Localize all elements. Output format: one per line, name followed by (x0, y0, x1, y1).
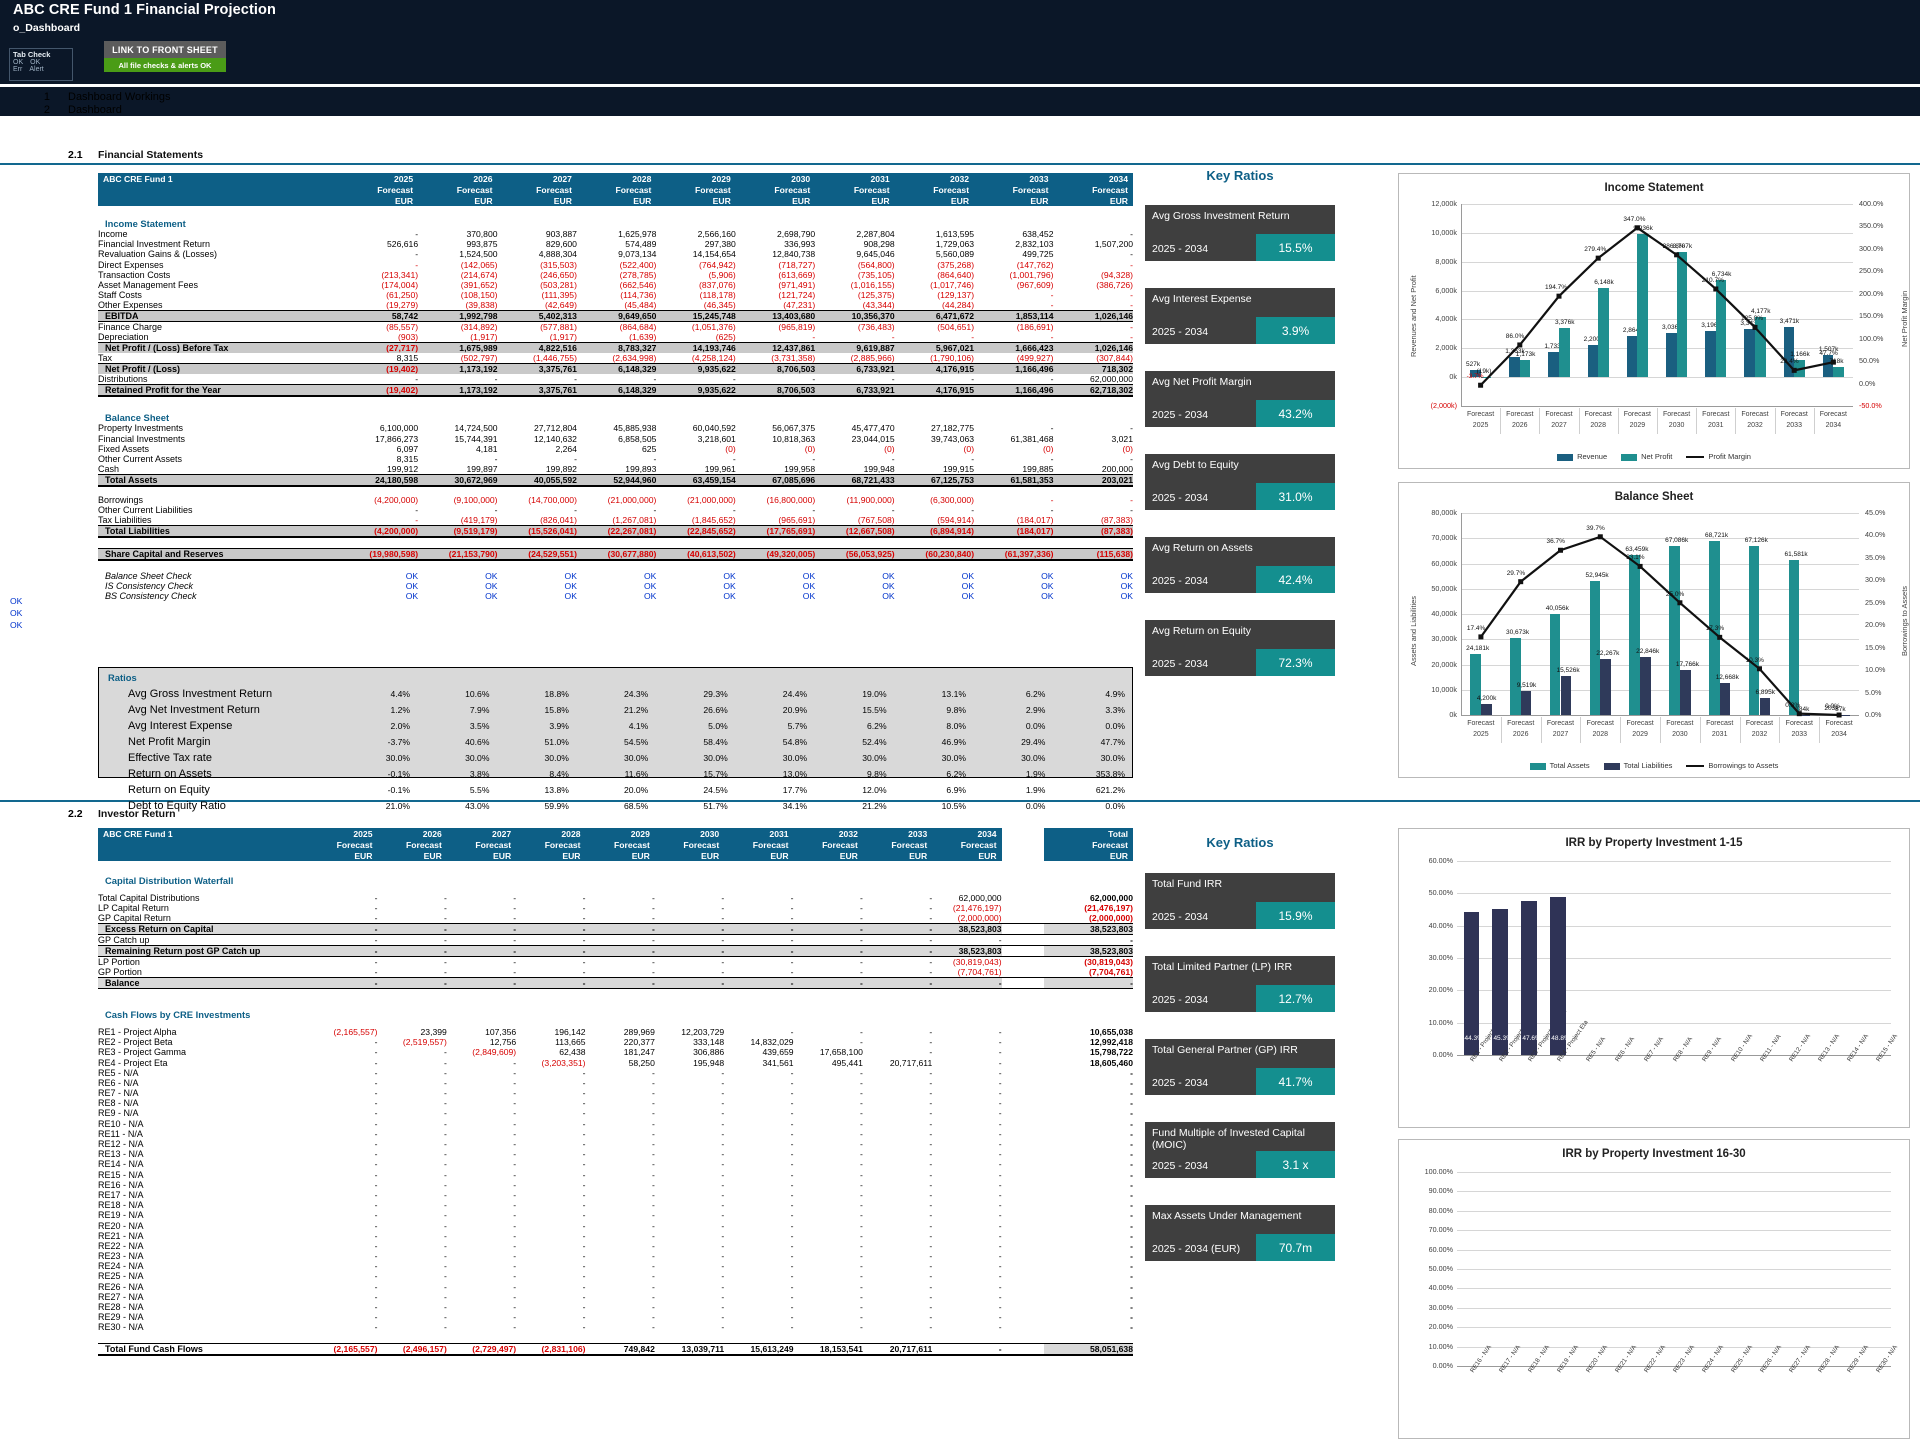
ir-cf-27-total: - (1044, 1302, 1133, 1312)
fs-bsa-3-v6: - (815, 454, 894, 464)
ir-cf-22-v0: - (308, 1251, 377, 1261)
left-ok-2: OK (10, 608, 22, 618)
ir-total-cf-v2: (2,729,497) (447, 1344, 516, 1356)
ir-cf-13-v6: - (724, 1159, 793, 1169)
income-statement-chart: Income Statement (2,000k)0k2,000k4,000k6… (1398, 173, 1910, 469)
ir-wf-2-v5: - (655, 913, 724, 924)
key-ratio-card-3[interactable]: Total General Partner (GP) IRR2025 - 203… (1145, 1039, 1335, 1095)
ir-cf-15-v0: - (308, 1180, 377, 1190)
ir-cf-9-v3: - (516, 1119, 585, 1129)
ir-cf-8-v3: - (516, 1108, 585, 1118)
ir-cf-18-v5: - (655, 1210, 724, 1220)
ir-wf-8-v4: - (586, 978, 655, 989)
fs-retained-v7: 4,176,915 (895, 385, 974, 397)
ir-cf-13-v9: - (932, 1159, 1001, 1169)
fs-total-liabs-v5: (17,765,691) (736, 526, 815, 538)
line-label: 347.0% (1623, 216, 1645, 223)
ir-wf-0-v3: - (516, 893, 585, 903)
fs-eur-5: EUR (736, 195, 815, 206)
ratio-4-v1: 30.0% (417, 751, 494, 765)
ir-cf-15-v7: - (794, 1180, 863, 1190)
ir-forecast-0: Forecast (308, 839, 377, 850)
fs-pe-1-v0: (903) (339, 332, 418, 343)
table-row: RE30 - N/A----------- (98, 1322, 1133, 1332)
ir-cf-8-v0: - (308, 1108, 377, 1118)
ir-cf-14-v2: - (447, 1170, 516, 1180)
ir-cf-4-v7: - (794, 1068, 863, 1078)
fs-check-0-v5: OK (736, 571, 815, 581)
ir-cf-1-v4: 220,377 (586, 1037, 655, 1047)
legend-item-0: Total Assets (1530, 761, 1590, 770)
ir-cf-28-v3: - (516, 1312, 585, 1322)
fs-bsl-1-v6: - (815, 505, 894, 515)
fs-total-liabs-v4: (22,845,652) (656, 526, 735, 538)
fs-bsa-0-v0: 6,100,000 (339, 423, 418, 433)
fs-is-4-v2: (246,650) (498, 270, 577, 280)
fs-share-capital-v4: (40,613,502) (656, 548, 735, 560)
ir-cf-label-27: RE28 - N/A (98, 1302, 308, 1312)
ratio-3-v8: 29.4% (973, 735, 1050, 749)
ir-wf-4-v5: - (655, 935, 724, 946)
fs-bsl-1-v9: - (1053, 505, 1133, 515)
fs-bsa-4-v2: 199,892 (498, 464, 577, 475)
fs-year-2026: 2026 (418, 173, 497, 184)
ir-cf-0-v8: - (863, 1027, 932, 1037)
fs-bsl-1-v5: - (736, 505, 815, 515)
fs-bsl-2-v0: - (339, 515, 418, 526)
link-to-front-sheet[interactable]: LINK TO FRONT SHEET All file checks & al… (104, 41, 226, 72)
fs-is-7-v5: (47,231) (736, 300, 815, 311)
ir-wf-8-v8: - (863, 978, 932, 989)
ir-cf-26-v4: - (586, 1292, 655, 1302)
key-ratio-card-2[interactable]: Avg Interest Expense2025 - 20343.9% (1145, 288, 1335, 344)
fs-check-label-0: Balance Sheet Check (98, 571, 339, 581)
fs-year-2032: 2032 (895, 173, 974, 184)
fs-bsa-2-v5: (0) (736, 444, 815, 454)
ir-cf-17-v1: - (377, 1200, 446, 1210)
ir-cf-0-total: 10,655,038 (1044, 1027, 1133, 1037)
table-row: RE22 - N/A----------- (98, 1241, 1133, 1251)
key-ratio-name: Fund Multiple of Invested Capital (MOIC) (1152, 1127, 1335, 1151)
legend-swatch (1621, 454, 1637, 461)
fs-bsa-1-v3: 6,858,505 (577, 434, 656, 444)
table-row: RE10 - N/A----------- (98, 1119, 1133, 1129)
ratio-0-v6: 19.0% (814, 687, 891, 701)
gridline (1457, 1288, 1891, 1289)
ir-cf-20-v3: - (516, 1231, 585, 1241)
ir-cf-3-total: 18,605,460 (1044, 1057, 1133, 1067)
ir-cf-15-v9: - (932, 1180, 1001, 1190)
fs-bsa-3-v4: - (656, 454, 735, 464)
line-label: 0.0% (1825, 703, 1840, 710)
ir-cf-3-v5: 195,948 (655, 1057, 724, 1067)
ir-cf-0-v6: - (724, 1027, 793, 1037)
fs-is-6-v2: (111,395) (498, 290, 577, 300)
ir-cf-6-v9: - (932, 1088, 1001, 1098)
fs-is-2-v0: - (339, 249, 418, 259)
ir-wf-6-v8: - (863, 957, 932, 968)
fs-is-7-v7: (44,284) (895, 300, 974, 311)
ir-cf-18-v2: - (447, 1210, 516, 1220)
ir-cf-24-v0: - (308, 1271, 377, 1281)
fs-is-3-v2: (315,503) (498, 260, 577, 270)
fs-bsa-label-2: Fixed Assets (98, 444, 339, 454)
ir-wf-1-v6: - (724, 903, 793, 913)
fs-is-0-v7: 1,613,595 (895, 229, 974, 239)
fs-bsl-1-v3: - (577, 505, 656, 515)
ir-cf-4-v4: - (586, 1068, 655, 1078)
gridline (1457, 1327, 1891, 1328)
category-separator (1740, 717, 1741, 743)
fs-bsa-0-v4: 60,040,592 (656, 423, 735, 433)
y-tick: 0.00% (1413, 1050, 1453, 1059)
ir-cf-8-v8: - (863, 1108, 932, 1118)
fs-is-label-6: Staff Costs (98, 290, 339, 300)
table-row: RE1 - Project Alpha(2,165,557)23,399107,… (98, 1027, 1133, 1037)
fs-is-2-v6: 9,645,046 (815, 249, 894, 259)
ir-wf-8-v3: - (516, 978, 585, 989)
ir-cf-23-v1: - (377, 1261, 446, 1271)
table-row: Tax Liabilities-(419,179)(826,041)(1,267… (98, 515, 1133, 526)
ir-wf-2-v1: - (377, 913, 446, 924)
ir-cf-16-v0: - (308, 1190, 377, 1200)
line-label: 194.7% (1545, 284, 1567, 291)
ratio-4-v5: 30.0% (735, 751, 812, 765)
ir-cf-11-v4: - (586, 1139, 655, 1149)
ir-cf-label-28: RE29 - N/A (98, 1312, 308, 1322)
ir-wf-7-total: (7,704,761) (1044, 967, 1133, 978)
ir-cf-18-v6: - (724, 1210, 793, 1220)
key-ratio-name: Total Limited Partner (LP) IRR (1152, 961, 1292, 973)
fs-is-5-v3: (662,546) (577, 280, 656, 290)
fs-bsa-0-v5: 56,067,375 (736, 423, 815, 433)
fs-is-6-v0: (61,250) (339, 290, 418, 300)
fs-is-3-v7: (375,268) (895, 260, 974, 270)
x-category-label: RE28 - N/A (1817, 1344, 1841, 1374)
ir-forecast-8: Forecast (863, 839, 932, 850)
ir-cf-19-v8: - (863, 1220, 932, 1230)
fs-bsl-0-v0: (4,200,000) (339, 495, 418, 505)
fs-eur-7: EUR (895, 195, 974, 206)
ir-eur-4: EUR (586, 850, 655, 861)
fs-share-capital-v7: (60,230,840) (895, 548, 974, 560)
fs-is-3-v6: (564,800) (815, 260, 894, 270)
ir-wf-4-v1: - (377, 935, 446, 946)
fs-forecast-9: Forecast (1053, 184, 1133, 195)
ratio-2-v7: 8.0% (894, 719, 971, 733)
fs-bsl-1-v7: - (895, 505, 974, 515)
fs-total-assets-v5: 67,085,696 (736, 475, 815, 487)
ir-cf-15-v8: - (863, 1180, 932, 1190)
fs-is-0-v8: 638,452 (974, 229, 1053, 239)
ir-cf-9-total: - (1044, 1119, 1133, 1129)
ir-total-cf-v3: (2,831,106) (516, 1344, 585, 1356)
table-row: Remaining Return post GP Catch up-------… (98, 946, 1133, 957)
fs-is-1-v4: 297,380 (656, 239, 735, 249)
ir-forecast-2: Forecast (447, 839, 516, 850)
fs-bsa-4-v7: 199,915 (895, 464, 974, 475)
fs-bsl-2-v7: (594,914) (895, 515, 974, 526)
key-ratio-value: 3.9% (1256, 317, 1335, 344)
fs-bsa-3-v7: - (895, 454, 974, 464)
table-row: IS Consistency CheckOKOKOKOKOKOKOKOKOKOK (98, 581, 1133, 591)
ir-cf-22-total: - (1044, 1251, 1133, 1261)
table-row: LP Capital Return---------(21,476,197)(2… (98, 903, 1133, 913)
ir-cf-28-v5: - (655, 1312, 724, 1322)
ratio-5-v2: 8.4% (496, 767, 573, 781)
key-ratio-card-2[interactable]: Total Limited Partner (LP) IRR2025 - 203… (1145, 956, 1335, 1012)
key-ratio-name: Max Assets Under Management (1152, 1210, 1301, 1222)
fs-total-liabs-v0: (4,200,000) (339, 526, 418, 538)
fs-bsa-1-v7: 39,743,063 (895, 434, 974, 444)
fs-is-2-v9: - (1053, 249, 1133, 259)
ratio-2-v2: 3.9% (496, 719, 573, 733)
ir-cf-8-v7: - (794, 1108, 863, 1118)
fs-pe-0-v8: (186,691) (974, 322, 1053, 333)
table-row: Financial Investments17,866,27315,744,39… (98, 434, 1133, 444)
irr-bar-0 (1464, 912, 1480, 1055)
ir-wf-5-v5: - (655, 946, 724, 957)
ir-wf-1-v0: - (308, 903, 377, 913)
x-category-label: RE11 - N/A (1759, 1033, 1783, 1063)
sheet-name: o_Dashboard (13, 22, 80, 34)
key-ratio-card-3[interactable]: Avg Net Profit Margin2025 - 203443.2% (1145, 371, 1335, 427)
fs-is-7-v3: (45,484) (577, 300, 656, 311)
x-category-label: RE21 - N/A (1614, 1344, 1638, 1374)
ir-cf-1-v9: - (932, 1037, 1001, 1047)
ir-cf-10-v6: - (724, 1129, 793, 1139)
ir-cf-17-v9: - (932, 1200, 1001, 1210)
link-to-front-sheet-button[interactable]: LINK TO FRONT SHEET (104, 41, 226, 58)
ir-wf-1-v8: - (863, 903, 932, 913)
key-ratio-card-1[interactable]: Avg Gross Investment Return2025 - 203415… (1145, 205, 1335, 261)
ir-cf-8-v9: - (932, 1108, 1001, 1118)
table-row: Excess Return on Capital---------38,523,… (98, 924, 1133, 935)
file-check-status-badge: All file checks & alerts OK (104, 58, 226, 72)
ir-cf-0-v4: 289,969 (586, 1027, 655, 1037)
table-row: RE24 - N/A----------- (98, 1261, 1133, 1271)
fs-pe-1-v5: - (736, 332, 815, 343)
ratio-3-v4: 58.4% (655, 735, 732, 749)
category-separator (1775, 408, 1776, 434)
ir-cf-21-v8: - (863, 1241, 932, 1251)
nav-item-dashboard[interactable]: Dashboard (68, 104, 122, 116)
x-category-label: RE10 - N/A (1730, 1033, 1754, 1063)
ir-cf-label-7: RE8 - N/A (98, 1098, 308, 1108)
ir-cf-21-v0: - (308, 1241, 377, 1251)
ir-cf-8-v2: - (447, 1108, 516, 1118)
fs-is-2-v2: 4,888,304 (498, 249, 577, 259)
ratio-7-v0: 21.0% (338, 799, 415, 813)
ir-cf-2-v4: 181,247 (586, 1047, 655, 1057)
fs-check-1-v9: OK (1053, 581, 1133, 591)
table-row: RE17 - N/A----------- (98, 1190, 1133, 1200)
key-ratio-value: 31.0% (1256, 483, 1335, 510)
ir-eur-3: EUR (516, 850, 585, 861)
fs-ebitda-label: EBITDA (98, 311, 339, 322)
ratio-7-v9: 0.0% (1052, 799, 1130, 813)
y2-axis-title: Borrowings to Assets (1900, 586, 1909, 656)
ir-cf-label-15: RE16 - N/A (98, 1180, 308, 1190)
page-title: ABC CRE Fund 1 Financial Projection (13, 2, 276, 18)
ir-wf-5-v9: 38,523,803 (932, 946, 1001, 957)
ir-wf-2-v7: - (794, 913, 863, 924)
fs-bsl-1-v2: - (498, 505, 577, 515)
ir-cf-23-v3: - (516, 1261, 585, 1271)
table-row: Net Profit / (Loss) Before Tax(27,717)1,… (98, 343, 1133, 354)
gridline (1457, 1211, 1891, 1212)
fs-npbt-v2: 4,822,516 (498, 343, 577, 354)
fs-eur-1: EUR (418, 195, 497, 206)
ir-cf-26-total: - (1044, 1292, 1133, 1302)
fs-is-3-v9: - (1053, 260, 1133, 270)
ir-cf-8-v6: - (724, 1108, 793, 1118)
ir-forecast-9: Forecast (932, 839, 1001, 850)
fs-ebitda-v9: 1,026,146 (1053, 311, 1133, 322)
table-row: Total Liabilities(4,200,000)(9,519,179)(… (98, 526, 1133, 538)
fs-bsl-1-v4: - (656, 505, 735, 515)
ir-wf-3-v4: - (586, 924, 655, 935)
key-ratio-period: 2025 - 2034 (1152, 409, 1208, 421)
ir-cf-1-v3: 113,665 (516, 1037, 585, 1047)
ratio-0-v3: 24.3% (576, 687, 653, 701)
ir-cf-20-v4: - (586, 1231, 655, 1241)
x-category-label: Forecast (1815, 720, 1863, 727)
fs-total-liabs-label: Total Liabilities (98, 526, 339, 538)
x-category-label: RE23 - N/A (1672, 1344, 1696, 1374)
line-label: 86.0% (1506, 333, 1524, 340)
ir-cf-16-v1: - (377, 1190, 446, 1200)
fs-check-1-v6: OK (815, 581, 894, 591)
x-category-label: RE30 - N/A (1875, 1344, 1899, 1374)
fs-share-capital-label: Share Capital and Reserves (98, 548, 339, 560)
ir-cf-13-v8: - (863, 1159, 932, 1169)
fs-retained-v4: 9,935,622 (656, 385, 735, 397)
ratio-5-v8: 1.9% (973, 767, 1050, 781)
y-tick: 40.00% (1413, 1283, 1453, 1292)
category-separator (1501, 717, 1502, 743)
table-row: GP Catch up----------- (98, 935, 1133, 946)
ir-cf-2-v1: - (377, 1047, 446, 1057)
ir-wf-6-v5: - (655, 957, 724, 968)
ir-cf-2-v7: 17,658,100 (794, 1047, 863, 1057)
ir-cf-21-v7: - (794, 1241, 863, 1251)
ratio-4-v9: 30.0% (1052, 751, 1130, 765)
ir-year-2032: 2032 (794, 828, 863, 839)
key-ratio-period: 2025 - 2034 (1152, 243, 1208, 255)
ir-cf-22-v1: - (377, 1251, 446, 1261)
fs-bsa-label-1: Financial Investments (98, 434, 339, 444)
ir-eur-6: EUR (724, 850, 793, 861)
ir-cf-0-v9: - (932, 1027, 1001, 1037)
ir-cf-label-13: RE14 - N/A (98, 1159, 308, 1169)
ir-wf-0-v8: - (863, 893, 932, 903)
fs-year-2033: 2033 (974, 173, 1053, 184)
fs-check-label-1: IS Consistency Check (98, 581, 339, 591)
key-ratio-card-4[interactable]: Avg Debt to Equity2025 - 203431.0% (1145, 454, 1335, 510)
fs-is-5-v0: (174,004) (339, 280, 418, 290)
ir-cf-28-v0: - (308, 1312, 377, 1322)
ir-year-2026: 2026 (377, 828, 446, 839)
app-header: ABC CRE Fund 1 Financial Projection o_Da… (0, 0, 1920, 84)
ir-cf-25-v7: - (794, 1282, 863, 1292)
ir-cf-6-v4: - (586, 1088, 655, 1098)
ir-cf-21-v9: - (932, 1241, 1001, 1251)
ir-wf-3-v1: - (377, 924, 446, 935)
ir-cf-3-v9: - (932, 1057, 1001, 1067)
ir-cf-label-24: RE25 - N/A (98, 1271, 308, 1281)
ir-cf-9-v5: - (655, 1119, 724, 1129)
fs-retained-v5: 8,706,503 (736, 385, 815, 397)
table-row: Tax8,315(502,797)(1,446,755)(2,634,998)(… (98, 353, 1133, 364)
fs-bsa-4-v3: 199,893 (577, 464, 656, 475)
ir-cf-26-v0: - (308, 1292, 377, 1302)
fs-total-liabs-v7: (6,894,914) (895, 526, 974, 538)
fs-bsa-1-v8: 61,381,468 (974, 434, 1053, 444)
ir-cf-7-v6: - (724, 1098, 793, 1108)
legend-swatch (1604, 763, 1620, 770)
nav-item-dashboard-workings[interactable]: Dashboard Workings (68, 91, 171, 103)
ir-cf-19-total: - (1044, 1220, 1133, 1230)
ir-cf-27-v1: - (377, 1302, 446, 1312)
ir-cf-0-v3: 196,142 (516, 1027, 585, 1037)
ir-wf-3-v5: - (655, 924, 724, 935)
ir-total-cf-v8: 20,717,611 (863, 1344, 932, 1356)
fs-is-1-v0: 526,616 (339, 239, 418, 249)
key-ratio-name: Avg Interest Expense (1152, 293, 1252, 305)
line-label: 279.4% (1584, 246, 1606, 253)
ratio-label-7: Debt to Equity Ratio (101, 799, 336, 813)
key-ratio-card-4[interactable]: Fund Multiple of Invested Capital (MOIC)… (1145, 1122, 1335, 1178)
ir-eur-7: EUR (794, 850, 863, 861)
ir-wf-5-v0: - (308, 946, 377, 957)
ir-cf-24-v9: - (932, 1271, 1001, 1281)
key-ratio-card-5[interactable]: Max Assets Under Management2025 - 2034 (… (1145, 1205, 1335, 1261)
key-ratio-card-1[interactable]: Total Fund IRR2025 - 203415.9% (1145, 873, 1335, 929)
key-ratio-card-5[interactable]: Avg Return on Assets2025 - 203442.4% (1145, 537, 1335, 593)
fs-total-assets-v7: 67,125,753 (895, 475, 974, 487)
ir-cf-26-v8: - (863, 1292, 932, 1302)
x-category-label: RE24 - N/A (1701, 1344, 1725, 1374)
ir-cf-21-v6: - (724, 1241, 793, 1251)
ir-wf-0-total: 62,000,000 (1044, 893, 1133, 903)
table-row: Debt to Equity Ratio21.0%43.0%59.9%68.5%… (101, 799, 1130, 813)
ir-eur-9: EUR (932, 850, 1001, 861)
category-separator (1541, 717, 1542, 743)
fs-netprofit-v6: 6,733,921 (815, 364, 894, 375)
key-ratio-card-6[interactable]: Avg Return on Equity2025 - 203472.3% (1145, 620, 1335, 676)
ir-cf-15-v1: - (377, 1180, 446, 1190)
ir-wf-label-6: LP Portion (98, 957, 308, 968)
fs-is-0-v2: 903,887 (498, 229, 577, 239)
line-label: -3.7% (1467, 373, 1484, 380)
fs-is-2-v8: 499,725 (974, 249, 1053, 259)
fs-bsa-2-v1: 4,181 (418, 444, 497, 454)
fs-is-5-v1: (391,652) (418, 280, 497, 290)
ir-cf-12-v5: - (655, 1149, 724, 1159)
ir-wf-4-v2: - (447, 935, 516, 946)
key-ratio-name: Total Fund IRR (1152, 878, 1222, 890)
ir-cf-24-v7: - (794, 1271, 863, 1281)
fs-npbt-label: Net Profit / (Loss) Before Tax (98, 343, 339, 354)
ir-cf-21-v1: - (377, 1241, 446, 1251)
y-axis-title: Revenues and Net Profit (1409, 275, 1418, 357)
fs-dist-v9: 62,000,000 (1053, 374, 1133, 385)
fs-bsa-label-4: Cash (98, 464, 339, 475)
fs-netprofit-v8: 1,166,496 (974, 364, 1053, 375)
fs-year-2030: 2030 (736, 173, 815, 184)
legend-swatch (1686, 765, 1704, 767)
